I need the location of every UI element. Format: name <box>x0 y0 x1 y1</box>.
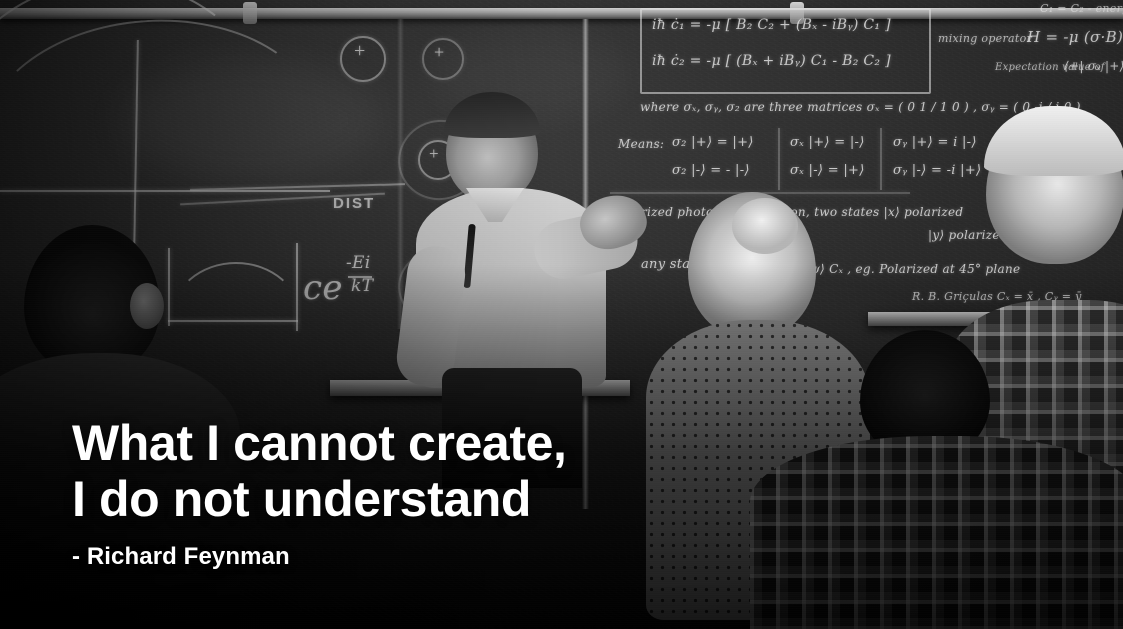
quote-image-card: DIST ce -Ei kT + + + + iħ ċ₁ = -μ [ B₂ C… <box>0 0 1123 629</box>
quote-attribution: - Richard Feynman <box>72 543 566 571</box>
quote-line-1: What I cannot create, <box>72 415 566 471</box>
quote-text: What I cannot create, I do not understan… <box>72 415 566 527</box>
quote-caption-block: What I cannot create, I do not understan… <box>72 415 566 571</box>
quote-line-2: I do not understand <box>72 471 566 527</box>
